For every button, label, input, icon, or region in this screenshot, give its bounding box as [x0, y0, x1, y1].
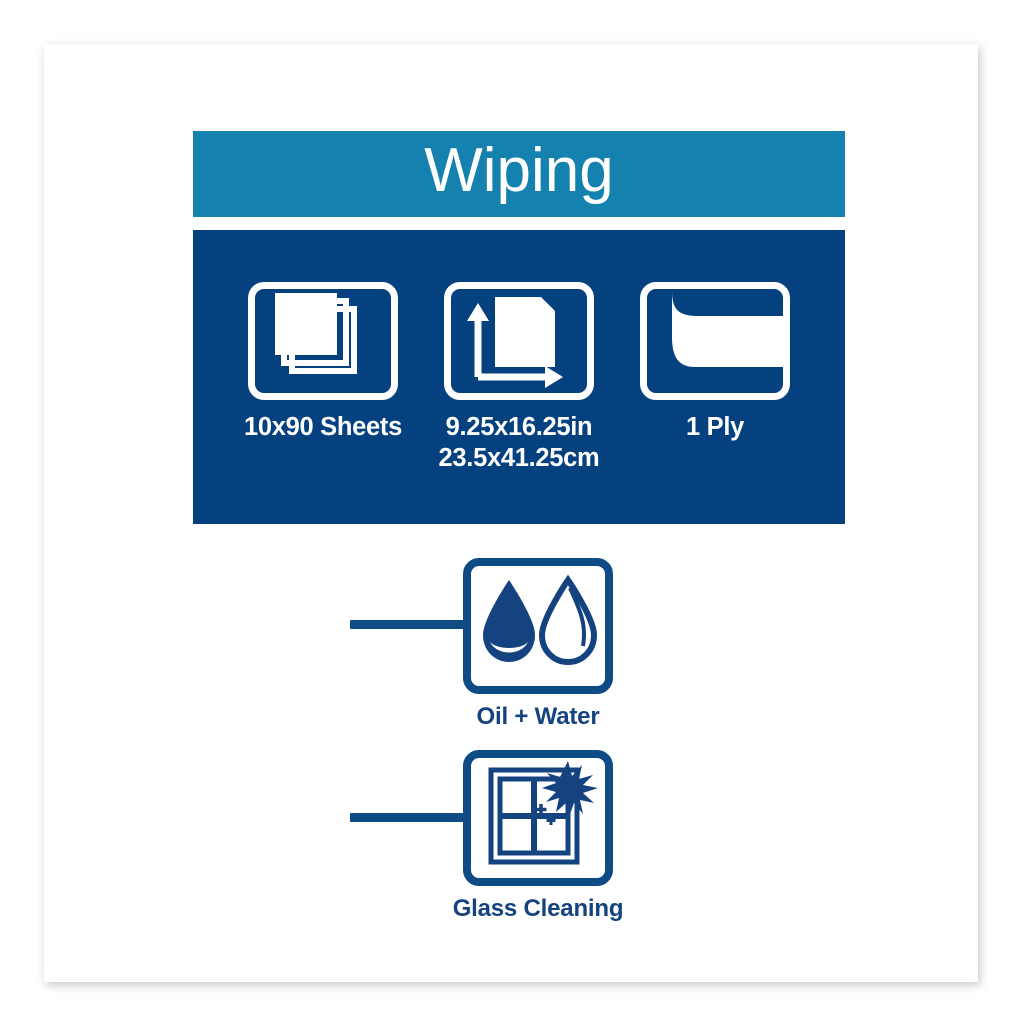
spec-item-dimensions: 9.25x16.25in 23.5x41.25cm	[434, 282, 604, 475]
spec-label-ply: 1 Ply	[686, 412, 744, 443]
page-title: Wiping	[424, 140, 614, 208]
oil-water-droplets-icon	[471, 566, 605, 686]
glass-window-sparkle-icon	[471, 758, 605, 878]
benefit-icon-frame-glass	[463, 750, 613, 886]
benefit-connector-line	[350, 620, 468, 629]
product-feature-infographic: Wiping	[0, 0, 1024, 1024]
title-band: Wiping	[193, 131, 845, 217]
stacked-sheets-icon	[255, 289, 391, 393]
spec-item-ply: 1 Ply	[630, 282, 800, 443]
spec-item-sheets: 10x90 Sheets	[238, 282, 408, 443]
spec-label-dimensions: 9.25x16.25in 23.5x41.25cm	[439, 412, 600, 475]
sheet-dimensions-arrows-icon	[451, 289, 587, 393]
specs-panel: 10x90 Sheets	[193, 230, 845, 524]
single-ply-sheet-icon	[647, 289, 783, 393]
spec-icon-frame	[444, 282, 594, 400]
benefit-icon-frame-oil-water	[463, 558, 613, 694]
spec-icon-frame	[640, 282, 790, 400]
spec-label-sheets: 10x90 Sheets	[244, 412, 402, 443]
spec-icon-frame	[248, 282, 398, 400]
benefit-label-oil-water: Oil + Water	[418, 703, 658, 731]
benefit-connector-line	[350, 813, 468, 822]
benefit-label-glass: Glass Cleaning	[408, 895, 668, 923]
specs-row: 10x90 Sheets	[193, 282, 845, 475]
